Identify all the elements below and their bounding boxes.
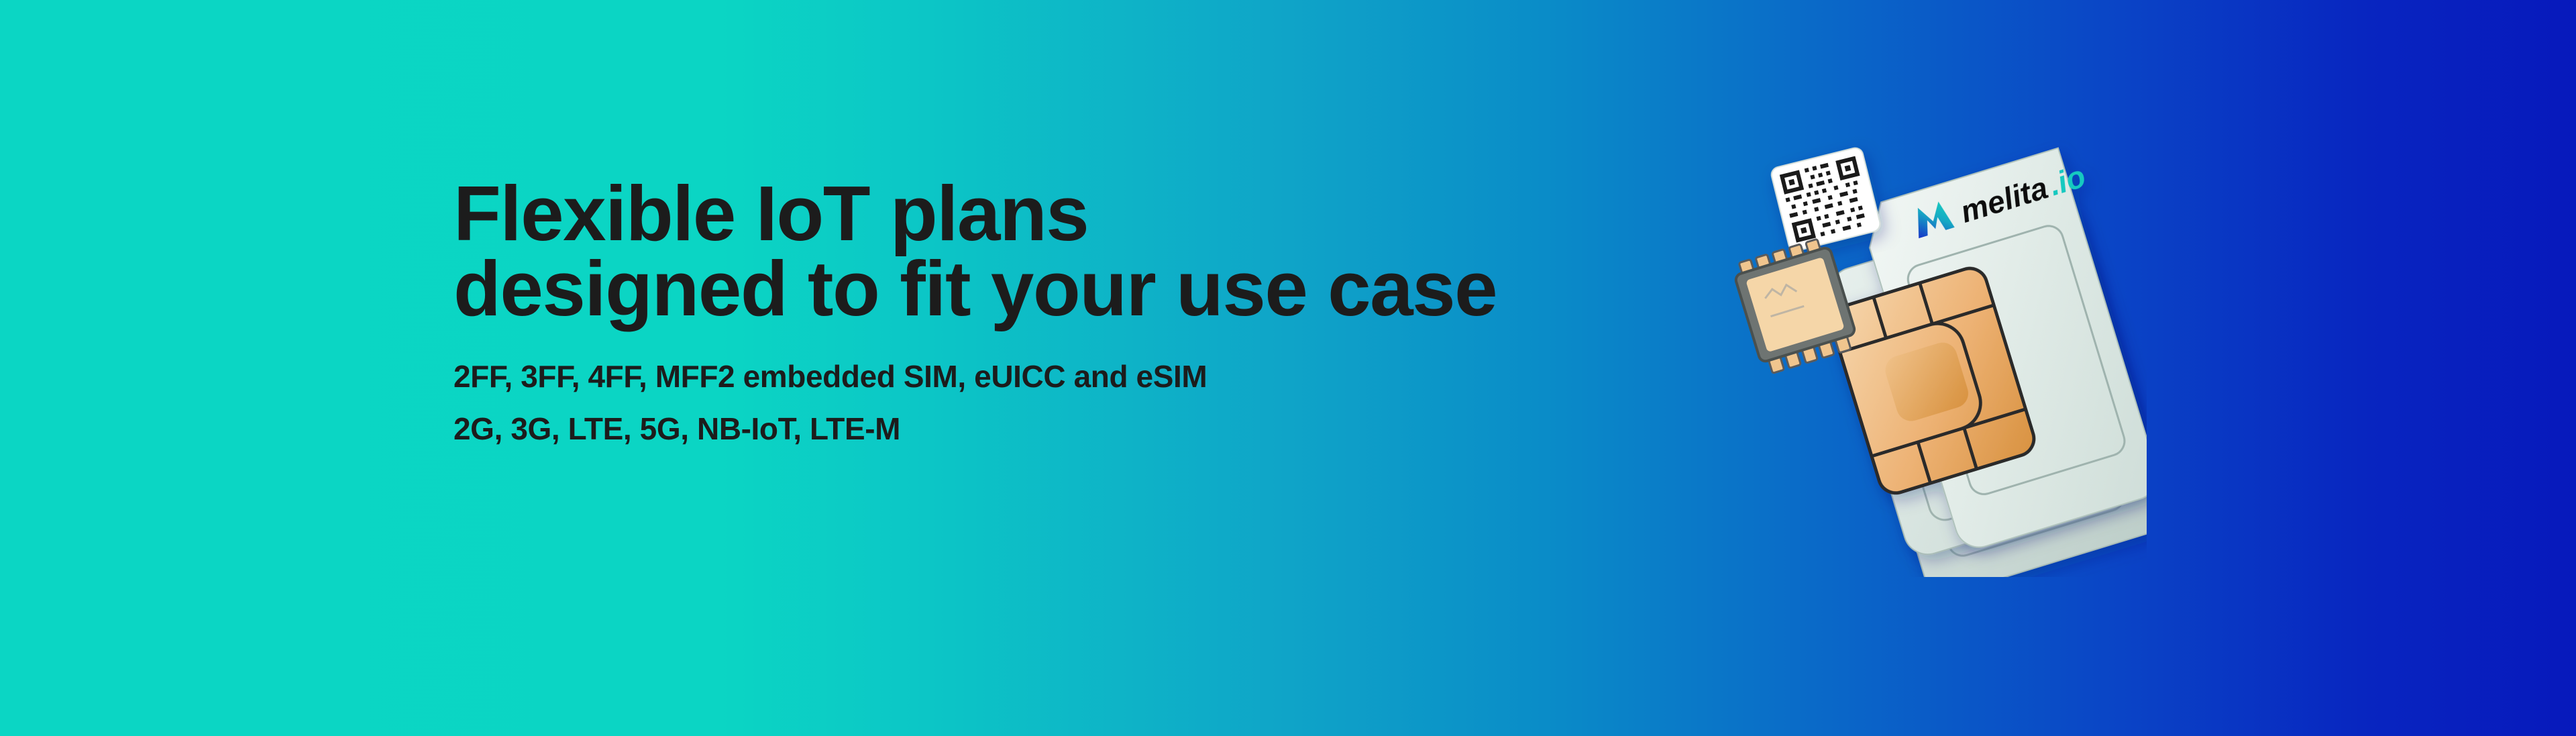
esim-qr-code-card <box>1770 146 1882 252</box>
headline-line-1: Flexible IoT plans <box>453 176 1728 251</box>
page-title: Flexible IoT plans designed to fit your … <box>453 176 1728 326</box>
hero-copy-block: Flexible IoT plans designed to fit your … <box>453 176 1728 455</box>
headline-line-2: designed to fit your use case <box>453 251 1728 326</box>
subhead-line-networks: 2G, 3G, LTE, 5G, NB-IoT, LTE-M <box>453 403 1728 455</box>
subhead-line-form-factors: 2FF, 3FF, 4FF, MFF2 embedded SIM, eUICC … <box>453 350 1728 403</box>
hero-subheading: 2FF, 3FF, 4FF, MFF2 embedded SIM, eUICC … <box>453 326 1728 455</box>
sim-cards-illustration: melita .io <box>1717 121 2147 577</box>
iot-plans-hero-banner: Flexible IoT plans designed to fit your … <box>0 0 2576 736</box>
